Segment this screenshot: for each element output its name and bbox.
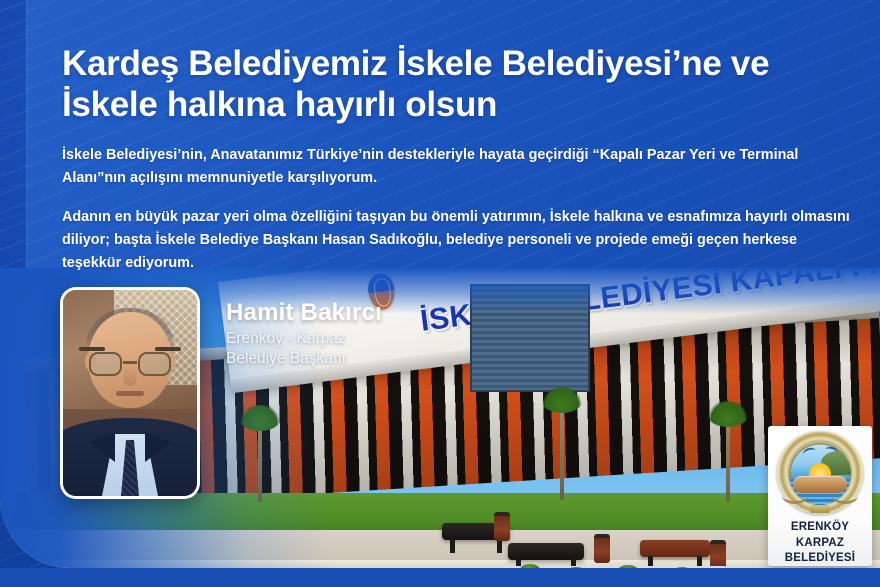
handshake-icon [793,476,847,493]
bottom-accent-bar [0,568,880,587]
poster: İSKELE BELEDİYESİ KAPALI PAZAR YERİ [0,0,880,587]
bench [508,543,584,560]
litter-bin [594,534,610,563]
avatar [60,287,200,499]
signatory-role-line-2: Belediye Başkanı [226,349,382,369]
municipality-seal-icon [777,431,863,514]
badge-line-1: ERENKÖY [785,520,855,535]
seal-ring-lettering [777,431,863,514]
eyebrow-right [155,347,181,351]
nose [124,366,137,386]
signatory-name: Hamit Bakırcı [226,300,382,327]
page-title: Kardeş Belediyemiz İskele Belediyesi’ne … [62,44,832,126]
mouth [116,391,144,396]
body-paragraph-2: Adanın en büyük pazar yeri olma özelliği… [62,206,850,274]
municipality-logo-badge: ERENKÖY KARPAZ BELEDİYESİ [768,426,872,566]
litter-bin [494,512,510,541]
palm-tree [726,414,730,502]
badge-line-2: KARPAZ [785,536,855,551]
bench [640,540,710,557]
signatory-role-line-1: Erenköy - Karpaz [226,329,382,349]
palm-tree [560,400,564,500]
badge-label: ERENKÖY KARPAZ BELEDİYESİ [785,520,855,566]
litter-bin [710,540,726,568]
signature-block: Hamit Bakırcı Erenköy - Karpaz Belediye … [226,300,382,369]
portrait-photo [63,290,197,496]
eyebrow-left [79,347,105,351]
badge-line-3: BELEDİYESİ [785,551,855,566]
body-paragraph-1: İskele Belediyesi’nin, Anavatanımız Türk… [62,144,846,190]
